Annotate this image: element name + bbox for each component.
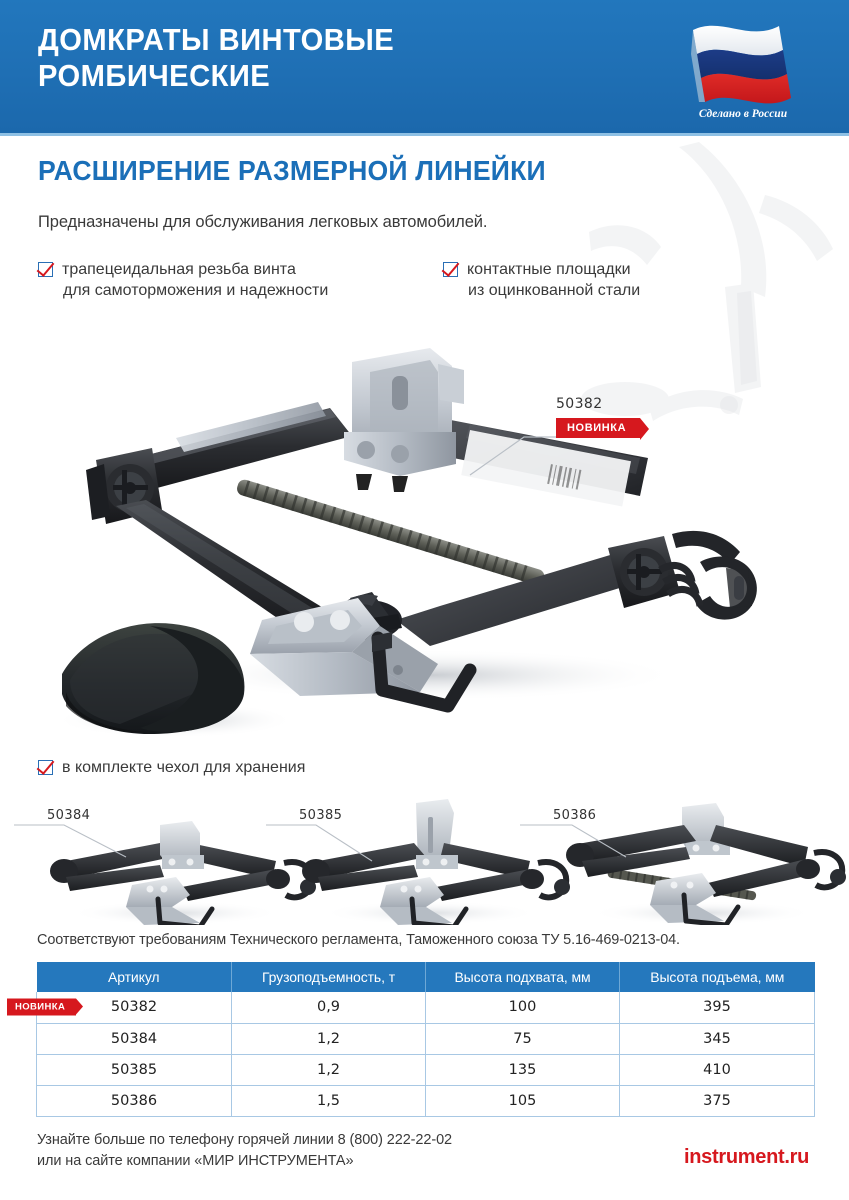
cell-pickup-height: 105 [426, 1085, 620, 1116]
page-title-line1: ДОМКРАТЫ ВИНТОВЫЕ [38, 22, 394, 57]
cell-article: НОВИНКА 50382 [37, 992, 232, 1023]
variant-images [0, 795, 849, 925]
footer-line2: или на сайте компании «МИР ИНСТРУМЕНТА» [37, 1151, 452, 1172]
callout-main-product: 50382 НОВИНКА [556, 396, 640, 438]
feature-0-line2: для самоторможения и надежности [62, 280, 328, 301]
cell-lift-height: 395 [620, 992, 815, 1023]
footer-contact: Узнайте больше по телефону горячей линии… [37, 1130, 452, 1172]
russian-flag-logo: Сделано в России [679, 14, 807, 122]
cell-lift-height: 410 [620, 1054, 815, 1085]
header-divider [0, 133, 849, 136]
table-row: 50384 1,2 75 345 [37, 1023, 815, 1054]
checkbox-icon [38, 760, 53, 775]
table-row: 50386 1,5 105 375 [37, 1085, 815, 1116]
cell-capacity: 1,5 [232, 1085, 426, 1116]
cell-article: 50386 [37, 1085, 232, 1116]
flag-caption: Сделано в России [679, 108, 807, 120]
cell-pickup-height: 100 [426, 992, 620, 1023]
feature-2-line1: в комплекте чехол для хранения [62, 759, 305, 776]
section-headline: РАСШИРЕНИЕ РАЗМЕРНОЙ ЛИНЕЙКИ [38, 155, 546, 187]
col-header-lift-height: Высота подъема, мм [620, 962, 815, 992]
brand-link-instrument-ru[interactable]: instrument.ru [684, 1146, 809, 1169]
variant-code-50386: 50386 [553, 808, 596, 823]
cell-pickup-height: 135 [426, 1054, 620, 1085]
cell-capacity: 1,2 [232, 1023, 426, 1054]
cell-article-value: 50382 [111, 999, 157, 1015]
table-header-row: Артикул Грузоподъемность, т Высота подхв… [37, 962, 815, 992]
section-subtitle: Предназначены для обслуживания легковых … [38, 213, 487, 232]
hero-product-image [0, 320, 849, 750]
new-badge-main: НОВИНКА [556, 418, 640, 438]
col-header-article: Артикул [37, 962, 232, 992]
cell-lift-height: 345 [620, 1023, 815, 1054]
spec-table: Артикул Грузоподъемность, т Высота подхв… [36, 962, 815, 1117]
cell-capacity: 1,2 [232, 1054, 426, 1085]
cell-capacity: 0,9 [232, 992, 426, 1023]
variant-code-50385: 50385 [299, 808, 342, 823]
feature-1-line2: из оцинкованной стали [467, 280, 640, 301]
table-row: 50385 1,2 135 410 [37, 1054, 815, 1085]
feature-item-pads: контактные площадкииз оцинкованной стали [443, 259, 640, 301]
new-badge-table: НОВИНКА [7, 999, 76, 1016]
col-header-pickup-height: Высота подхвата, мм [426, 962, 620, 992]
cell-article: 50384 [37, 1023, 232, 1054]
cell-lift-height: 375 [620, 1085, 815, 1116]
col-header-capacity: Грузоподъемность, т [232, 962, 426, 992]
feature-1-line1: контактные площадки [467, 261, 631, 278]
cell-pickup-height: 75 [426, 1023, 620, 1054]
product-code-main: 50382 [556, 396, 640, 412]
page-title-line2: РОМБИЧЕСКИЕ [38, 58, 621, 94]
cell-article: 50385 [37, 1054, 232, 1085]
checkbox-icon [38, 262, 53, 277]
feature-item-case: в комплекте чехол для хранения [38, 757, 305, 778]
feature-item-thread: трапецеидальная резьба винтадля самоторм… [38, 259, 328, 301]
feature-0-line1: трапецеидальная резьба винта [62, 261, 296, 278]
spec-table-wrapper: Артикул Грузоподъемность, т Высота подхв… [36, 962, 814, 1117]
product-sheet: ДОМКРАТЫ ВИНТОВЫЕ РОМБИЧЕСКИЕ [0, 0, 849, 1200]
page-title: ДОМКРАТЫ ВИНТОВЫЕ РОМБИЧЕСКИЕ [38, 22, 621, 94]
page-header: ДОМКРАТЫ ВИНТОВЫЕ РОМБИЧЕСКИЕ [0, 0, 849, 133]
flag-icon [679, 14, 807, 106]
footer-line1: Узнайте больше по телефону горячей линии… [37, 1130, 452, 1151]
variant-code-50384: 50384 [47, 808, 90, 823]
certification-text: Соответствуют требованиям Технического р… [37, 932, 680, 948]
table-row: НОВИНКА 50382 0,9 100 395 [37, 992, 815, 1023]
checkbox-icon [443, 262, 458, 277]
